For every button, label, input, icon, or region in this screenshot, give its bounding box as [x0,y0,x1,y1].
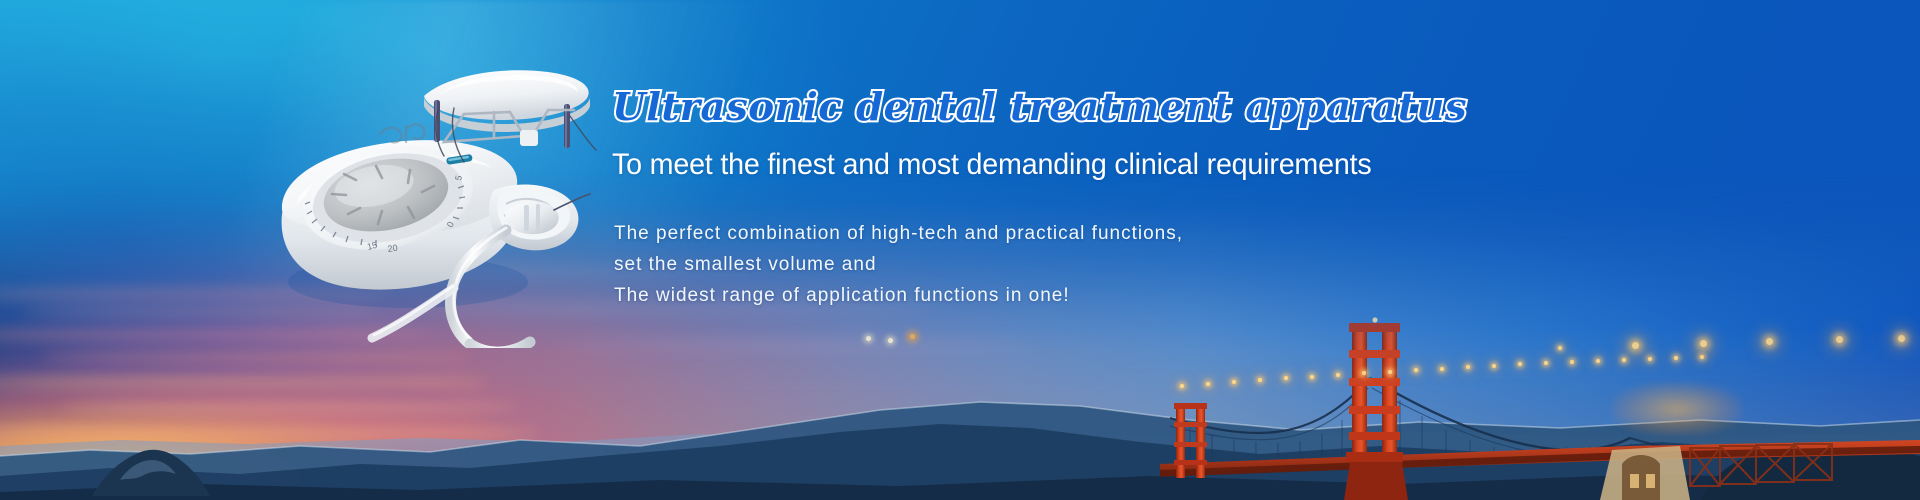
deck-lamp [1284,376,1288,380]
deck-lamp [1596,359,1600,363]
roadway-lamp [1766,338,1773,345]
roadway-lamp [1836,336,1843,343]
deck-lamp [1700,355,1704,359]
ridge-light [910,334,915,339]
bridge-tower-main [1344,317,1408,500]
deck-lamp [1388,370,1392,374]
tip-holder-block [520,130,538,146]
deck-lamp [1362,371,1366,375]
roadway-lamp [1558,346,1562,350]
deck-lamp [1674,356,1678,360]
ultrasonic-scaler-product-image: 15 20 0 5 [248,38,598,348]
roadway-lamp [1700,340,1707,347]
brand-logo [380,124,424,142]
banner-subtitle: To meet the finest and most demanding cl… [612,148,1548,182]
deck-lamp [1232,380,1236,384]
body-line: The perfect combination of high-tech and… [614,218,1592,249]
deck-lamp [1180,384,1184,388]
svg-text:20: 20 [387,243,398,254]
deck-lamp [1310,375,1314,379]
banner-body-copy: The perfect combination of high-tech and… [614,218,1592,311]
abutment-glow [1612,382,1742,436]
ridge-light [888,338,893,343]
roadway-lamp [1632,342,1639,349]
body-line: set the smallest volume and [614,249,1592,280]
deck-lamp [1466,365,1470,369]
bridge-pier [1344,462,1408,500]
bridge-abutment [1600,446,1690,500]
roadway-lamp [1898,335,1905,342]
deck-lamp [1440,367,1444,371]
page-title: Ultrasonic dental treatment apparatus [612,88,1612,126]
deck-lamp [1518,362,1522,366]
handpiece-cord-lower [470,342,530,348]
ridge-light [866,336,871,341]
deck-lamp [1336,373,1340,377]
deck-lamp [1258,378,1262,382]
deck-lamp [1544,361,1548,365]
deck-lamp [1570,360,1574,364]
deck-lamp [1622,358,1626,362]
deck-lamp [1414,368,1418,372]
tower-beacon [1372,317,1377,322]
deck-lamp [1206,382,1210,386]
promo-banner: 15 20 0 5 [0,0,1920,500]
suspension-cable-secondary [1372,388,1632,456]
deck-lamp [1492,364,1496,368]
deck-lamp [1648,357,1652,361]
body-line: The widest range of application function… [614,280,1592,311]
suspension-cable-main [1370,378,1630,450]
banner-copy: Ultrasonic dental treatment apparatus To… [612,88,1592,311]
